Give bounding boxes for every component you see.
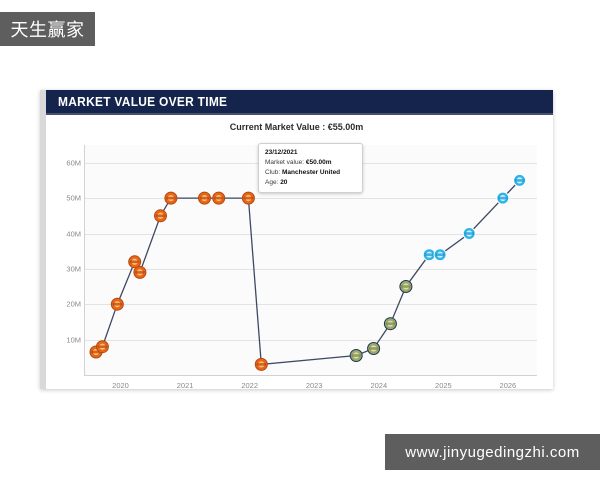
tooltip-club-label: Club:	[265, 169, 280, 176]
y-axis-tick-label: 40M	[66, 229, 81, 238]
data-point-man_utd-crest-icon[interactable]	[165, 192, 177, 204]
tooltip-date: 23/12/2021	[265, 148, 357, 158]
data-point-man_utd-crest-icon[interactable]	[155, 210, 167, 222]
tooltip-age-value: 20	[280, 179, 287, 186]
watermark-bottom-right-text: www.jinyugedingzhi.com	[405, 444, 579, 461]
data-point-green-crest-icon[interactable]	[368, 343, 380, 355]
data-point-blue-crest-icon[interactable]	[423, 249, 435, 261]
card-header-title: MARKET VALUE OVER TIME	[58, 94, 227, 109]
y-axis-tick-label: 10M	[66, 335, 81, 344]
data-point-man_utd-crest-icon[interactable]	[96, 341, 108, 353]
tooltip-market-value: Market value: €50.00m	[265, 158, 357, 168]
y-axis-tick-label: 50M	[66, 194, 81, 203]
y-axis-tick-label: 20M	[66, 300, 81, 309]
data-point-blue-crest-icon[interactable]	[497, 192, 509, 204]
data-point-green-crest-icon[interactable]	[400, 281, 412, 293]
data-point-man_utd-crest-icon[interactable]	[134, 266, 146, 278]
x-axis-tick-label: 2023	[306, 381, 323, 390]
watermark-top-left-text: 天生赢家	[11, 16, 85, 42]
data-point-green-crest-icon[interactable]	[384, 318, 396, 330]
data-point-man_utd-crest-icon[interactable]	[242, 192, 254, 204]
x-axis-tick-label: 2025	[435, 381, 452, 390]
x-axis-tick-label: 2021	[177, 381, 194, 390]
market-value-line	[96, 180, 520, 364]
x-axis-tick-label: 2026	[500, 381, 517, 390]
watermark-bottom-right: www.jinyugedingzhi.com	[385, 434, 600, 470]
data-point-tooltip: 23/12/2021 Market value: €50.00m Club: M…	[258, 143, 363, 193]
tooltip-market-value-value: €50.00m	[306, 159, 332, 166]
x-axis-tick-label: 2022	[241, 381, 258, 390]
tooltip-market-value-label: Market value:	[265, 159, 304, 166]
tooltip-club-value: Manchester United	[282, 169, 340, 176]
y-axis-tick-label: 30M	[66, 264, 81, 273]
x-axis-line	[85, 375, 537, 376]
y-axis-tick-label: 60M	[66, 158, 81, 167]
card-header: MARKET VALUE OVER TIME	[46, 90, 553, 115]
card-left-rail	[40, 90, 46, 389]
watermark-top-left: 天生赢家	[0, 12, 95, 46]
x-axis-tick-label: 2020	[112, 381, 129, 390]
data-point-man_utd-crest-icon[interactable]	[199, 192, 211, 204]
chart-title: Current Market Value : €55.00m	[40, 122, 553, 132]
x-axis-tick-label: 2024	[370, 381, 387, 390]
data-point-blue-crest-icon[interactable]	[514, 174, 526, 186]
data-point-man_utd-crest-icon[interactable]	[111, 298, 123, 310]
market-value-card: MARKET VALUE OVER TIME Current Market Va…	[40, 90, 553, 389]
data-point-blue-crest-icon[interactable]	[434, 249, 446, 261]
data-point-blue-crest-icon[interactable]	[463, 228, 475, 240]
data-point-green-crest-icon[interactable]	[350, 350, 362, 362]
tooltip-club: Club: Manchester United	[265, 168, 357, 178]
tooltip-age: Age: 20	[265, 178, 357, 188]
tooltip-age-label: Age:	[265, 179, 278, 186]
data-point-man_utd-crest-icon[interactable]	[255, 358, 267, 370]
data-point-man_utd-crest-icon[interactable]	[213, 192, 225, 204]
